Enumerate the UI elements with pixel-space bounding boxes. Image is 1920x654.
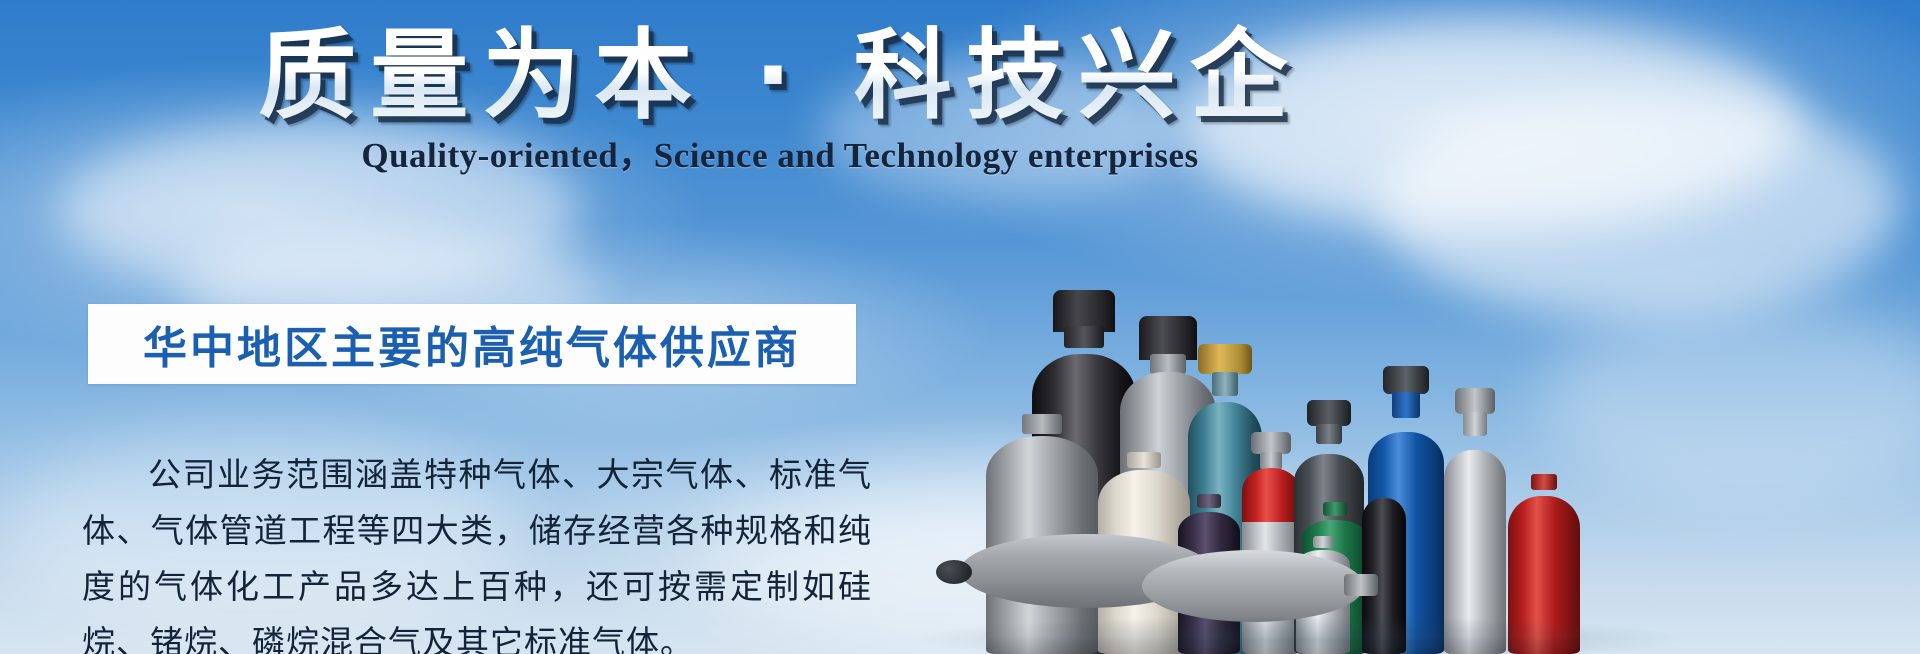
cylinder-neck [1463,412,1487,436]
group-ground-shadow [920,616,1680,654]
cylinder-neck [1531,474,1557,490]
cylinder-valve [1307,400,1351,426]
cylinder-neck [1316,424,1342,444]
silver-tank-valve [1344,574,1378,596]
cylinder-neck [1323,502,1347,516]
banner-body-copy: 公司业务范围涵盖特种气体、大宗气体、标准气体、气体管道工程等四大类，储存经营各种… [82,448,872,654]
cylinder-neck [1064,326,1104,348]
cylinder-valve [1383,366,1429,394]
cylinder-valve [1251,432,1291,454]
banner-headline: 质量为本 · 科技兴企 [0,22,1560,130]
cylinder-neck [1313,536,1333,548]
cylinder-neck [1022,414,1062,434]
cylinder-valve [1455,388,1495,414]
cylinder-neck [1150,354,1186,374]
cylinder-valve [1198,344,1252,374]
slogan-text: 华中地区主要的高纯气体供应商 [143,312,801,376]
gas-cylinder-group-image [920,150,1920,654]
cylinder-neck [1392,392,1420,418]
promotional-banner: 质量为本 · 科技兴企 Quality-oriented，Science and… [0,0,1920,654]
cylinder-neck [1127,452,1161,468]
silver-horizontal-tank [1142,550,1364,622]
cylinder-neck [1197,494,1221,508]
body-paragraph: 公司业务范围涵盖特种气体、大宗气体、标准气体、气体管道工程等四大类，储存经营各种… [82,448,872,654]
grey-tank-valve [936,560,972,584]
cylinder-neck [1212,372,1238,396]
cylinder-red-shoulder [1242,468,1300,526]
slogan-box: 华中地区主要的高纯气体供应商 [88,304,856,384]
